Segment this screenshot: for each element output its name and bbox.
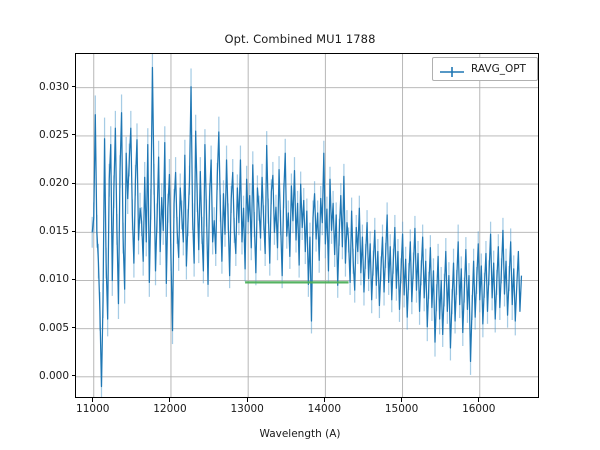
- x-tick-mark: [324, 398, 325, 402]
- y-tick-mark: [72, 375, 76, 376]
- legend-box: RAVG_OPT: [432, 57, 538, 81]
- x-tick-mark: [92, 398, 93, 402]
- y-tick-label: 0.020: [13, 177, 69, 189]
- y-tick-mark: [72, 327, 76, 328]
- y-tick-label: 0.005: [13, 322, 69, 334]
- y-tick-mark: [72, 279, 76, 280]
- plot-axes: [75, 53, 539, 398]
- spectrum-plot: [76, 54, 538, 397]
- y-tick-mark: [72, 86, 76, 87]
- chart-title: Opt. Combined MU1 1788: [0, 32, 600, 46]
- y-tick-mark: [72, 231, 76, 232]
- y-tick-mark: [72, 134, 76, 135]
- plot-area: [76, 54, 538, 397]
- y-tick-label: 0.030: [13, 81, 69, 93]
- y-tick-mark: [72, 183, 76, 184]
- x-axis-label: Wavelength (A): [0, 428, 600, 440]
- y-tick-label: 0.015: [13, 225, 69, 237]
- y-tick-label: 0.025: [13, 129, 69, 141]
- legend-errorbar-icon: [439, 63, 465, 75]
- data-line-layer: [92, 67, 521, 386]
- x-tick-label: 11000: [76, 403, 109, 415]
- y-tick-label: 0.010: [13, 273, 69, 285]
- x-tick-label: 14000: [308, 403, 341, 415]
- x-tick-mark: [247, 398, 248, 402]
- y-tick-label: 0.000: [13, 370, 69, 382]
- x-tick-mark: [169, 398, 170, 402]
- figure-canvas: Opt. Combined MU1 1788 0.0000.0050.0100.…: [0, 0, 600, 450]
- legend-entry-label: RAVG_OPT: [471, 63, 526, 75]
- x-tick-label: 12000: [153, 403, 186, 415]
- x-tick-label: 13000: [230, 403, 263, 415]
- x-tick-label: 15000: [385, 403, 418, 415]
- x-tick-mark: [401, 398, 402, 402]
- x-tick-label: 16000: [462, 403, 495, 415]
- x-tick-mark: [478, 398, 479, 402]
